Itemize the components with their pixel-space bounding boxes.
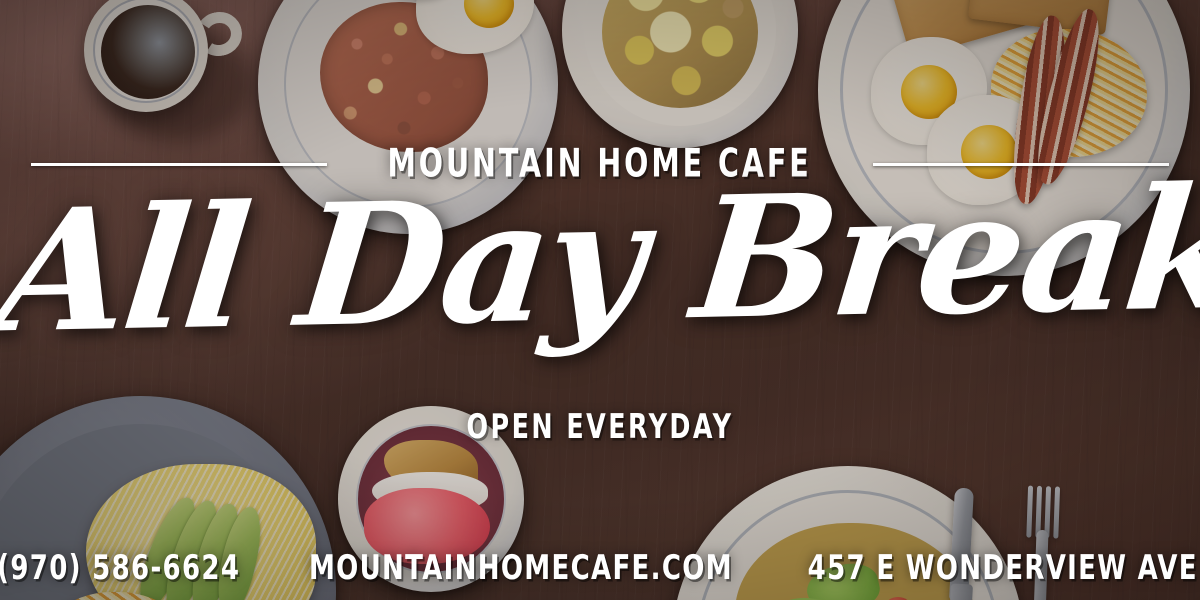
advertisement-banner: MOUNTAIN HOME CAFE All Day Breakfast! OP…: [0, 0, 1200, 600]
phone-number[interactable]: (970) 586-6624: [0, 547, 240, 587]
website-url[interactable]: MOUNTAINHOMECAFE.COM: [309, 547, 733, 587]
tagline-text: OPEN EVERYDAY: [467, 408, 734, 446]
contact-footer: (970) 586-6624 MOUNTAINHOMECAFE.COM 457 …: [0, 550, 1200, 584]
divider-rule-left: [31, 163, 327, 166]
headline: All Day Breakfast!: [0, 164, 1200, 355]
ad-content: MOUNTAIN HOME CAFE All Day Breakfast! OP…: [0, 0, 1200, 600]
tagline: OPEN EVERYDAY: [0, 412, 1200, 443]
street-address: 457 E WONDERVIEW AVE: [808, 547, 1198, 587]
